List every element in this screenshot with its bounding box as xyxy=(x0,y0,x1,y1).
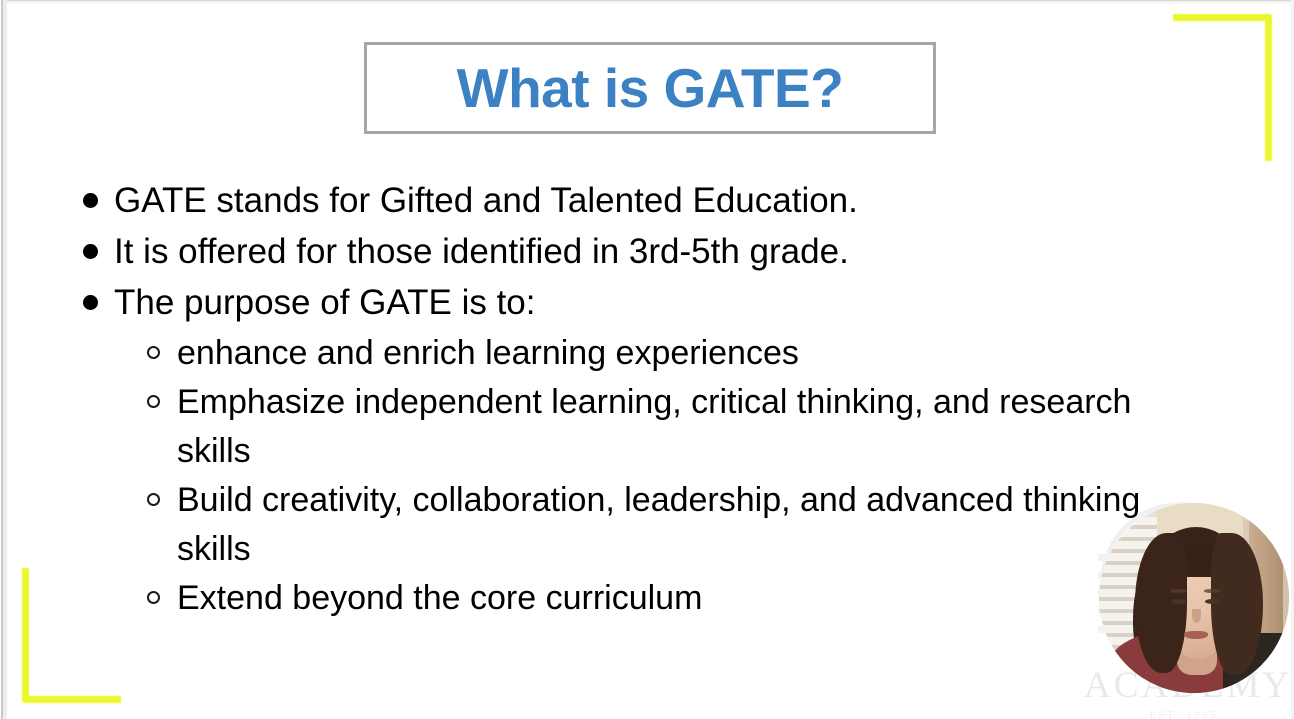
slide-body-bullet-list: GATE stands for Gifted and Talented Educ… xyxy=(66,176,1246,623)
bullet-disc-icon xyxy=(66,227,114,259)
list-item-label: Emphasize independent learning, critical… xyxy=(177,378,1207,476)
slide-title-box: What is GATE? xyxy=(364,42,936,134)
page-title: What is GATE? xyxy=(457,61,844,116)
bullet-disc-icon xyxy=(66,278,114,310)
list-item-label: The purpose of GATE is to: xyxy=(114,278,536,327)
list-item: Build creativity, collaboration, leaders… xyxy=(129,476,1246,574)
window-left-edge xyxy=(0,0,7,719)
corner-bracket-top-right-icon xyxy=(1173,14,1272,161)
list-item: The purpose of GATE is to: xyxy=(66,278,1246,327)
window-top-edge xyxy=(0,0,1294,3)
list-item: Extend beyond the core curriculum xyxy=(129,574,1246,623)
list-item-label: It is offered for those identified in 3r… xyxy=(114,227,849,276)
presenter-corner-media: NAME ACADEMY EST. 1985 xyxy=(1080,470,1294,719)
list-item-label: enhance and enrich learning experiences xyxy=(177,329,799,378)
bullet-disc-icon xyxy=(66,176,114,208)
list-item: Emphasize independent learning, critical… xyxy=(129,378,1246,476)
list-item-label: Build creativity, collaboration, leaders… xyxy=(177,476,1207,574)
list-item: It is offered for those identified in 3r… xyxy=(66,227,1246,276)
watermark-sub-line: EST. 1985 xyxy=(1084,710,1284,719)
list-item: enhance and enrich learning experiences xyxy=(129,329,1246,378)
bullet-circle-icon xyxy=(129,476,177,506)
presenter-webcam-bubble[interactable] xyxy=(1099,503,1289,693)
webcam-video-frame xyxy=(1099,503,1289,693)
list-item: GATE stands for Gifted and Talented Educ… xyxy=(66,176,1246,225)
bullet-circle-icon xyxy=(129,329,177,359)
slide-sub-bullet-list: enhance and enrich learning experiences … xyxy=(129,329,1246,623)
bullet-circle-icon xyxy=(129,574,177,604)
list-item-label: Extend beyond the core curriculum xyxy=(177,574,702,623)
bullet-circle-icon xyxy=(129,378,177,408)
slide-canvas: What is GATE? GATE stands for Gifted and… xyxy=(0,0,1294,719)
list-item-label: GATE stands for Gifted and Talented Educ… xyxy=(114,176,858,225)
